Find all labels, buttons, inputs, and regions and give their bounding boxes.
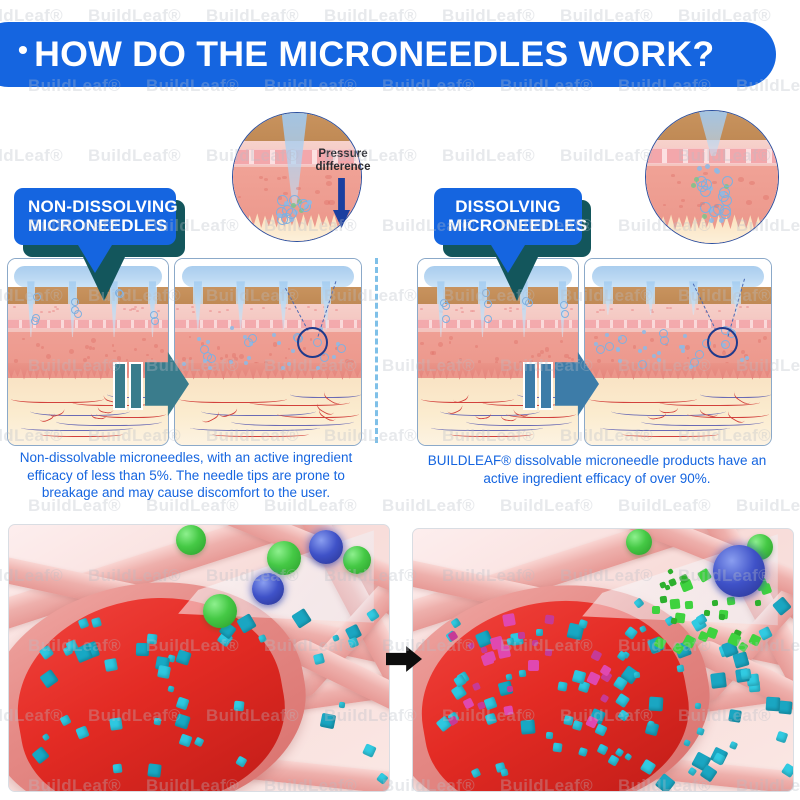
dermis-speck: [633, 345, 637, 349]
released-particle: [605, 333, 609, 337]
blue-spiky-sphere: [713, 545, 765, 597]
section-divider: [375, 258, 378, 443]
badge-right-line2: MICRONEEDLES: [448, 216, 568, 235]
epidermis-speck: [599, 309, 602, 311]
magnified-dermis-speck: [328, 200, 334, 204]
header-banner: HOW DO THE MICRONEEDLES WORK?: [0, 22, 776, 87]
magnified-particle: [691, 183, 696, 188]
badge-body-right: DISSOLVING MICRONEEDLES: [434, 188, 582, 245]
magenta-particle: [518, 632, 525, 639]
blood-vessel: [450, 430, 533, 437]
drug-cube-in-tissue: [338, 702, 345, 709]
capillary-tuft: [90, 405, 107, 420]
dermis-speck: [105, 354, 108, 357]
blood-vessel: [622, 430, 719, 437]
process-arrow-left: [113, 352, 189, 416]
watermark-text: BuildLeaf®: [618, 496, 711, 516]
green-particle: [685, 600, 694, 609]
released-particle: [618, 359, 622, 363]
released-molecule: [605, 342, 614, 351]
watermark-text: BuildLeaf®: [500, 496, 593, 516]
dermis-speck: [438, 342, 443, 347]
green-particle: [703, 610, 709, 616]
magnified-dermis-speck: [671, 174, 675, 177]
epidermis-speck: [461, 311, 464, 313]
drug-cube-in-vessel: [563, 715, 574, 726]
epidermis-speck: [56, 308, 59, 310]
caption-left: Non-dissolvable microneedles, with an ac…: [12, 449, 360, 502]
released-particle: [332, 355, 336, 359]
dermis-speck: [92, 347, 95, 350]
drug-cube-in-tissue: [766, 696, 781, 711]
magnified-dermis-speck: [283, 192, 288, 195]
released-particle: [244, 361, 248, 365]
epidermis-speck: [460, 307, 463, 309]
epidermis-speck: [48, 311, 51, 313]
green-particle: [719, 613, 726, 620]
drug-cube-in-vessel: [109, 718, 123, 732]
released-molecule: [200, 345, 209, 354]
epidermis-speck: [52, 310, 55, 312]
dermis-speck: [189, 336, 191, 338]
dermis-speck: [91, 338, 96, 343]
magnified-dermis-speck: [278, 196, 283, 199]
bullet-dot-icon: [19, 46, 27, 54]
dermis-speck: [154, 344, 158, 348]
epidermis-speck: [718, 310, 721, 312]
watermark-text: BuildLeaf®: [736, 496, 800, 516]
process-arrow-right: [523, 352, 599, 416]
magnified-drug-molecule: [701, 179, 712, 190]
green-sphere: [176, 525, 206, 555]
green-particle: [652, 605, 660, 613]
photo-sparse-delivery: [8, 524, 390, 792]
loaded-drug-molecule: [561, 310, 569, 318]
magnified-dermis-speck: [677, 181, 681, 184]
badge-right-line1: DISSOLVING: [448, 197, 568, 216]
watermark-text: BuildLeaf®: [442, 146, 535, 166]
loaded-drug-molecule: [32, 314, 40, 322]
magenta-particle: [545, 614, 555, 624]
epidermal-cell-row: [585, 319, 771, 328]
pressure-label-line2: difference: [307, 161, 379, 174]
skin-cross-section: [585, 259, 771, 445]
drug-cube-in-tissue: [233, 700, 244, 711]
pressure-label-line1: Pressure: [307, 148, 379, 161]
drug-cube-in-tissue: [710, 672, 726, 688]
stratum-corneum-layer: [585, 287, 771, 304]
magnified-dermis-speck: [700, 202, 705, 205]
magnified-dermis-speck: [259, 176, 263, 179]
dermis-speck: [350, 360, 353, 363]
epidermis-speck: [610, 308, 613, 310]
drug-cube-in-vessel: [135, 643, 149, 657]
released-particle: [247, 356, 251, 360]
released-particle: [249, 342, 253, 346]
magenta-particle: [507, 686, 514, 693]
magnified-dermis-speck: [326, 181, 332, 185]
dermis-speck: [758, 339, 761, 342]
badge-body-left: NON-DISSOLVING MICRONEEDLES: [14, 188, 176, 245]
epidermis-speck: [123, 308, 126, 310]
magenta-particle: [502, 613, 515, 626]
epidermis-speck: [596, 311, 599, 313]
dermis-speck: [142, 338, 145, 341]
zoom-marker-right: [707, 327, 738, 358]
drug-cube-in-tissue: [649, 697, 664, 712]
magenta-particle: [532, 640, 538, 646]
green-particle: [726, 597, 735, 606]
released-particle: [316, 366, 320, 370]
loaded-drug-molecule: [33, 293, 41, 301]
released-particle: [287, 362, 291, 366]
badge-non-dissolving[interactable]: NON-DISSOLVING MICRONEEDLES: [14, 188, 176, 245]
magenta-particle: [503, 705, 514, 716]
dermis-speck: [345, 359, 350, 364]
drug-cube-in-vessel: [552, 742, 563, 753]
caption-right: BUILDLEAF® dissolvable microneedle produ…: [414, 452, 780, 487]
green-sphere: [626, 529, 652, 555]
magenta-particle: [528, 660, 539, 671]
epidermis-speck: [136, 310, 139, 312]
magnified-dermis-speck: [264, 178, 268, 181]
drug-cube-in-vessel: [113, 763, 123, 773]
page-title: HOW DO THE MICRONEEDLES WORK?: [34, 35, 714, 74]
magnifier-dissolving: [645, 110, 779, 244]
dermis-speck: [514, 340, 518, 344]
loaded-drug-molecule: [484, 315, 492, 323]
dermis-speck: [46, 354, 51, 359]
watermark-text: BuildLeaf®: [560, 146, 653, 166]
drug-cube-in-vessel: [535, 629, 542, 636]
loaded-drug-molecule: [560, 301, 568, 309]
dermis-speck: [189, 357, 192, 360]
header-title-wrap: HOW DO THE MICRONEEDLES WORK?: [0, 35, 714, 75]
magnified-dermis-speck: [282, 176, 287, 179]
released-particle: [683, 334, 687, 338]
released-particle: [745, 356, 749, 360]
released-particle: [277, 341, 281, 345]
photo-dense-delivery: [412, 528, 794, 792]
blue-spiky-sphere: [252, 573, 284, 605]
blood-vessel: [212, 430, 309, 437]
watermark-text: BuildLeaf®: [382, 496, 475, 516]
skin-panel-dissolving-after: [584, 258, 772, 446]
blood-vessel: [40, 430, 123, 437]
pressure-difference-label: Pressure difference: [307, 148, 379, 174]
green-particle: [669, 598, 680, 609]
dermis-speck: [83, 358, 87, 362]
epidermis-speck: [40, 311, 43, 313]
epidermis-speck: [696, 308, 699, 310]
dermis-speck: [763, 336, 767, 340]
drug-cube-in-vessel: [546, 732, 553, 739]
epidermis-speck: [509, 307, 512, 309]
infographic-root: BuildLeaf®BuildLeaf®BuildLeaf®BuildLeaf®…: [0, 0, 800, 800]
drug-cube-in-vessel: [153, 717, 161, 725]
magnified-particle: [714, 168, 719, 173]
magnified-dermis-speck: [681, 199, 685, 202]
drug-cube-in-vessel: [146, 634, 157, 645]
watermark-text: BuildLeaf®: [0, 146, 63, 166]
drug-cube-in-vessel: [519, 670, 526, 677]
magnified-dermis-speck: [738, 177, 744, 181]
dermis-speck: [217, 346, 220, 349]
drug-cube-in-vessel: [520, 720, 536, 736]
magenta-particle: [545, 648, 553, 656]
badge-dissolving[interactable]: DISSOLVING MICRONEEDLES: [434, 188, 582, 245]
drug-cube-in-vessel: [104, 658, 118, 672]
released-particle: [638, 349, 642, 353]
dermis-speck: [14, 359, 17, 362]
magnified-dermis-speck: [746, 200, 752, 204]
released-molecule: [638, 360, 647, 369]
dermis-speck: [594, 336, 598, 340]
dermis-speck: [611, 359, 614, 362]
badge-left-line1: NON-DISSOLVING: [28, 197, 162, 216]
epidermis-speck: [504, 308, 507, 310]
drug-cube-in-vessel: [557, 681, 568, 692]
green-sphere: [203, 594, 237, 628]
badge-left-line2: MICRONEEDLES: [28, 216, 162, 235]
green-particle: [754, 599, 761, 606]
epidermal-cell-row: [175, 319, 361, 328]
magnified-drug-molecule: [722, 176, 733, 187]
dermis-speck: [685, 345, 690, 350]
released-molecule: [695, 350, 704, 359]
zoom-marker-left: [297, 327, 328, 358]
epidermis-speck: [746, 306, 749, 308]
released-molecule: [337, 344, 346, 353]
magnified-particle: [277, 213, 282, 218]
loaded-drug-molecule: [74, 310, 82, 318]
magnified-dermis-speck: [264, 188, 268, 191]
loaded-drug-molecule: [440, 299, 448, 307]
watermark-text: BuildLeaf®: [88, 146, 181, 166]
dermis-speck: [239, 354, 244, 359]
drug-cube-in-vessel: [147, 764, 162, 779]
loaded-drug-molecule: [484, 300, 492, 308]
released-particle: [657, 351, 661, 355]
released-particle: [243, 335, 247, 339]
dermis-speck: [87, 356, 90, 359]
